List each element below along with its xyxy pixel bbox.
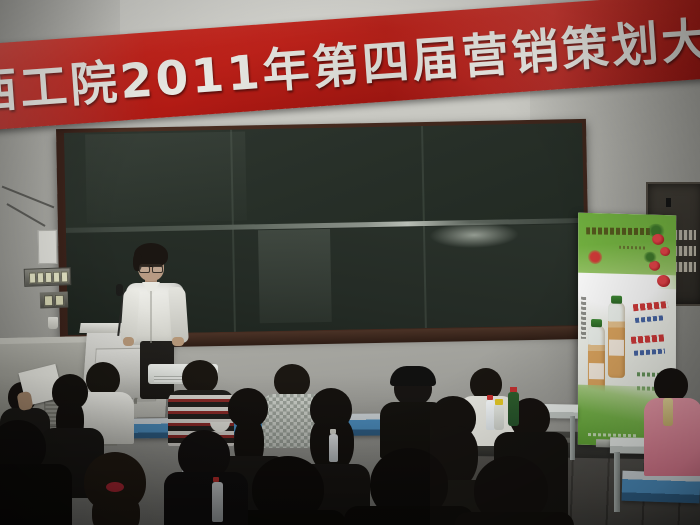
chalkboard-light-glare [428,221,518,249]
water-bottle-right [329,434,338,462]
desk-right-white-1-leg-2 [570,416,575,460]
audience-hand-holding-papers [17,391,34,411]
hair-tie [106,482,124,492]
poster-blue-text-2 [634,348,666,355]
presenter-left-hand [123,337,134,346]
torso [454,512,574,525]
torso [164,472,248,525]
poster-vertical-text [581,296,586,338]
baseball-cap-icon [390,366,436,386]
presenter-right-arm [168,286,189,343]
poster-red-text-2 [631,334,665,344]
torso [0,464,72,525]
presenter-shirt-placket [150,291,152,343]
water-bottle-front [212,482,223,522]
presenter-right-hand [172,337,184,346]
beverage-bottle-green [508,392,519,426]
electrical-switch [666,198,671,207]
desk-right-white-2-leg [614,452,620,512]
poster-leaf-2 [643,252,657,263]
chalkboard-light-patch [258,229,332,323]
eyeglasses-icon [139,264,163,272]
photo-scene: 西工院2011年第四届营销策划大赛 [0,0,700,525]
poster-bottle-right [608,301,625,378]
head [182,360,218,394]
beverage-bottle-yellow-cap [494,404,504,430]
power-strip [24,267,72,287]
drinking-cup [48,317,58,329]
head [86,362,120,396]
chalkboard-faint-patch-upper [85,131,247,223]
wall-outlet[interactable] [40,292,69,309]
paper-sign [38,230,58,264]
beverage-bottle-far-right [663,398,673,426]
head [274,364,310,398]
ponytail [92,492,140,525]
poster-brand-seal [588,250,602,264]
poster-headline-text [586,227,655,235]
head [654,368,688,402]
